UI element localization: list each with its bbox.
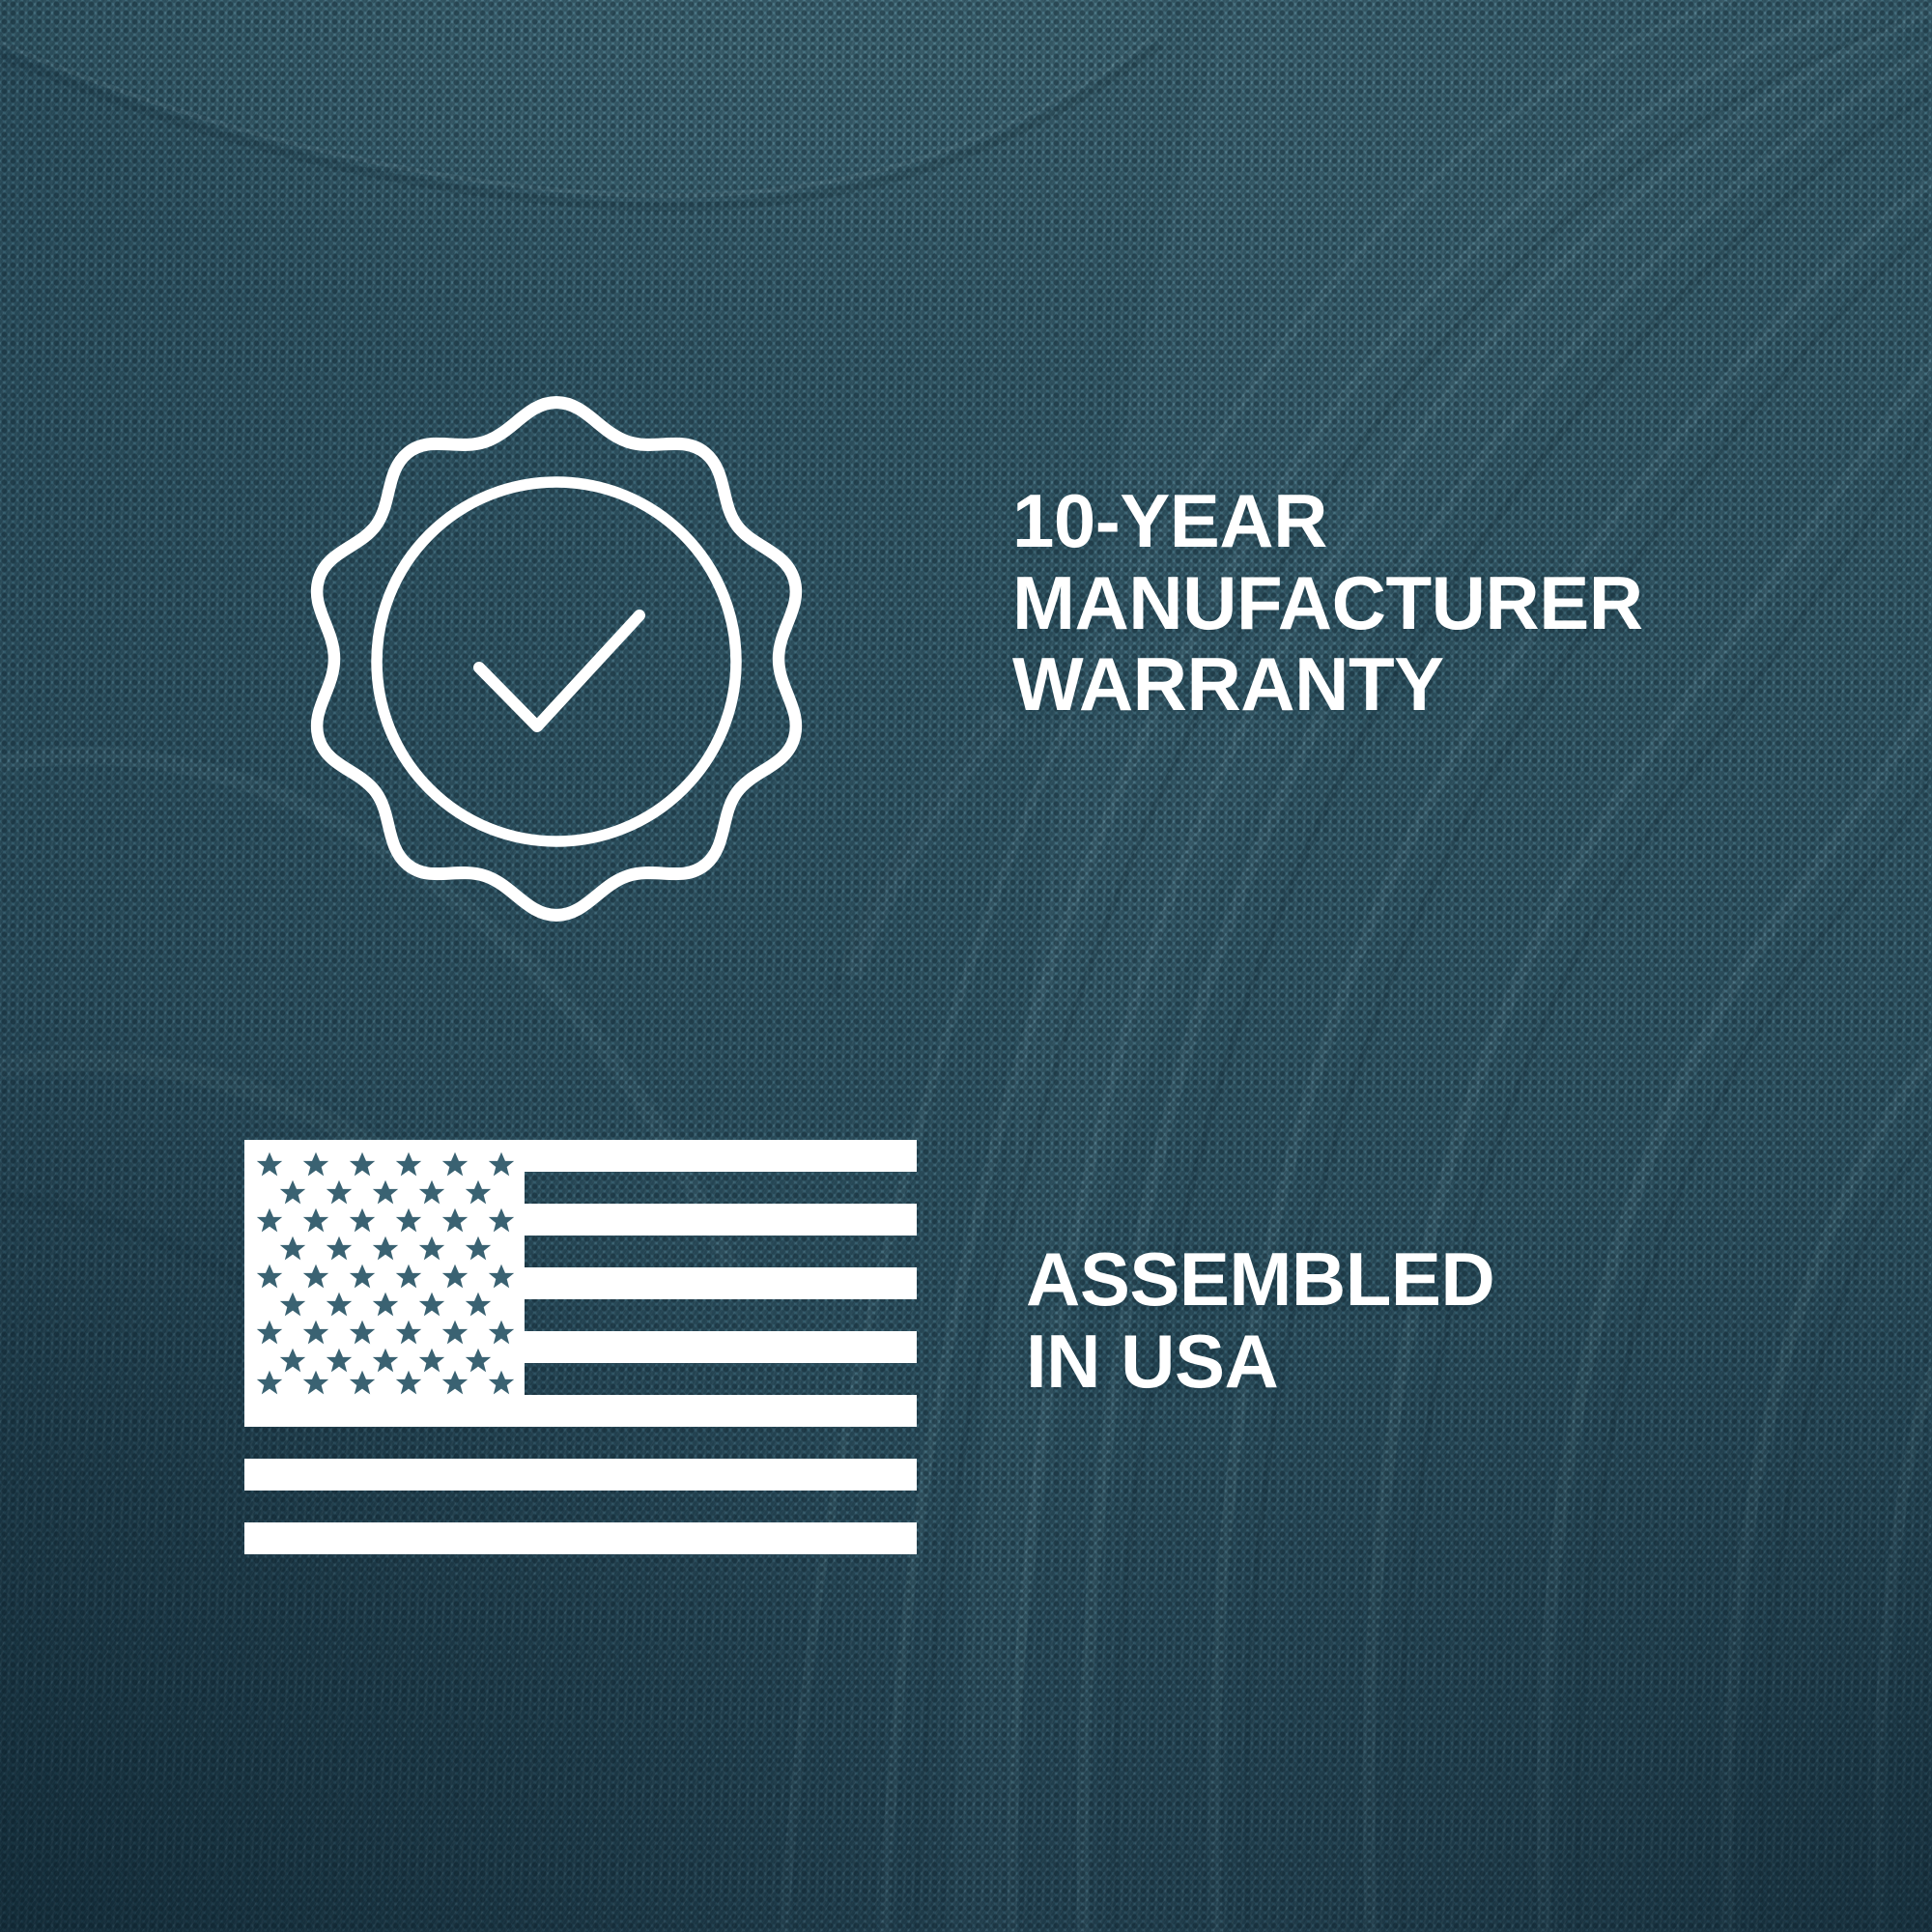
assembled-headline: ASSEMBLED IN USA [1026, 1238, 1760, 1402]
product-feature-graphic: 10-YEAR MANUFACTURER WARRANTY ASSEMBLED … [0, 0, 1932, 1932]
vignette-overlay [0, 0, 1932, 1932]
warranty-headline: 10-YEAR MANUFACTURER WARRANTY [1012, 480, 1804, 725]
award-badge-check-icon [241, 336, 871, 962]
usa-flag-icon [244, 1140, 917, 1555]
